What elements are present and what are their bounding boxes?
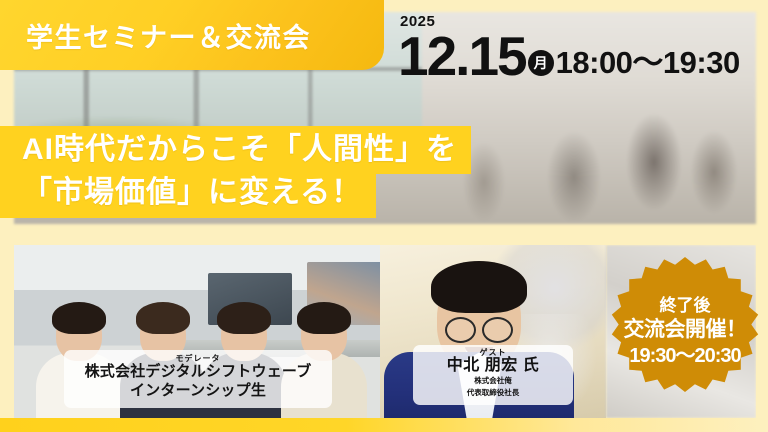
student-hair [217, 302, 271, 334]
guest-kicker: ゲスト [419, 349, 567, 357]
moderator-caption: モデレータ 株式会社デジタルシフトウェーブ インターンシップ生 [64, 350, 332, 408]
title-banner: 学生セミナー＆交流会 [0, 0, 384, 70]
student-hair [297, 302, 351, 334]
guest-name: 中北 朋宏 氏 [419, 357, 567, 375]
event-poster: 学生セミナー＆交流会 2025 12.15 月 18:00〜19:30 AI時代… [0, 0, 768, 432]
guest-hair [431, 261, 527, 313]
guest-title: 代表取締役社長 [419, 388, 567, 399]
guest-photo: ゲスト 中北 朋宏 氏 株式会社俺 代表取締役社長 [380, 245, 606, 418]
badge-line-2: 交流会開催！ [624, 317, 747, 343]
headline-line-1: AI時代だからこそ「人間性」を [0, 126, 471, 174]
student-hair [52, 302, 106, 334]
banner-title: 学生セミナー＆交流会 [26, 16, 311, 55]
bottom-accent-bar [0, 418, 768, 432]
moderator-kicker: モデレータ [72, 355, 324, 363]
badge-line-3: 19:30〜20:30 [629, 343, 740, 369]
moderator-photo: モデレータ 株式会社デジタルシフトウェーブ インターンシップ生 [14, 245, 380, 418]
event-date: 12.15 [398, 30, 526, 82]
moderator-company: 株式会社デジタルシフトウェーブ [72, 363, 324, 382]
moderator-role: インターンシップ生 [72, 382, 324, 401]
guest-caption: ゲスト 中北 朋宏 氏 株式会社俺 代表取締役社長 [413, 345, 573, 405]
event-time: 18:00〜19:30 [556, 47, 740, 82]
headline: AI時代だからこそ「人間性」を 「市場価値」に変える！ [0, 126, 471, 218]
glasses-icon [445, 317, 513, 339]
day-of-week-badge: 月 [528, 50, 554, 76]
badge-line-1: 終了後 [660, 295, 711, 316]
guest-company: 株式会社俺 [419, 376, 567, 387]
student-hair [136, 302, 190, 334]
event-date-block: 2025 12.15 月 18:00〜19:30 [398, 14, 758, 94]
headline-line-2: 「市場価値」に変える！ [0, 174, 376, 218]
date-row: 12.15 月 18:00〜19:30 [398, 30, 758, 82]
